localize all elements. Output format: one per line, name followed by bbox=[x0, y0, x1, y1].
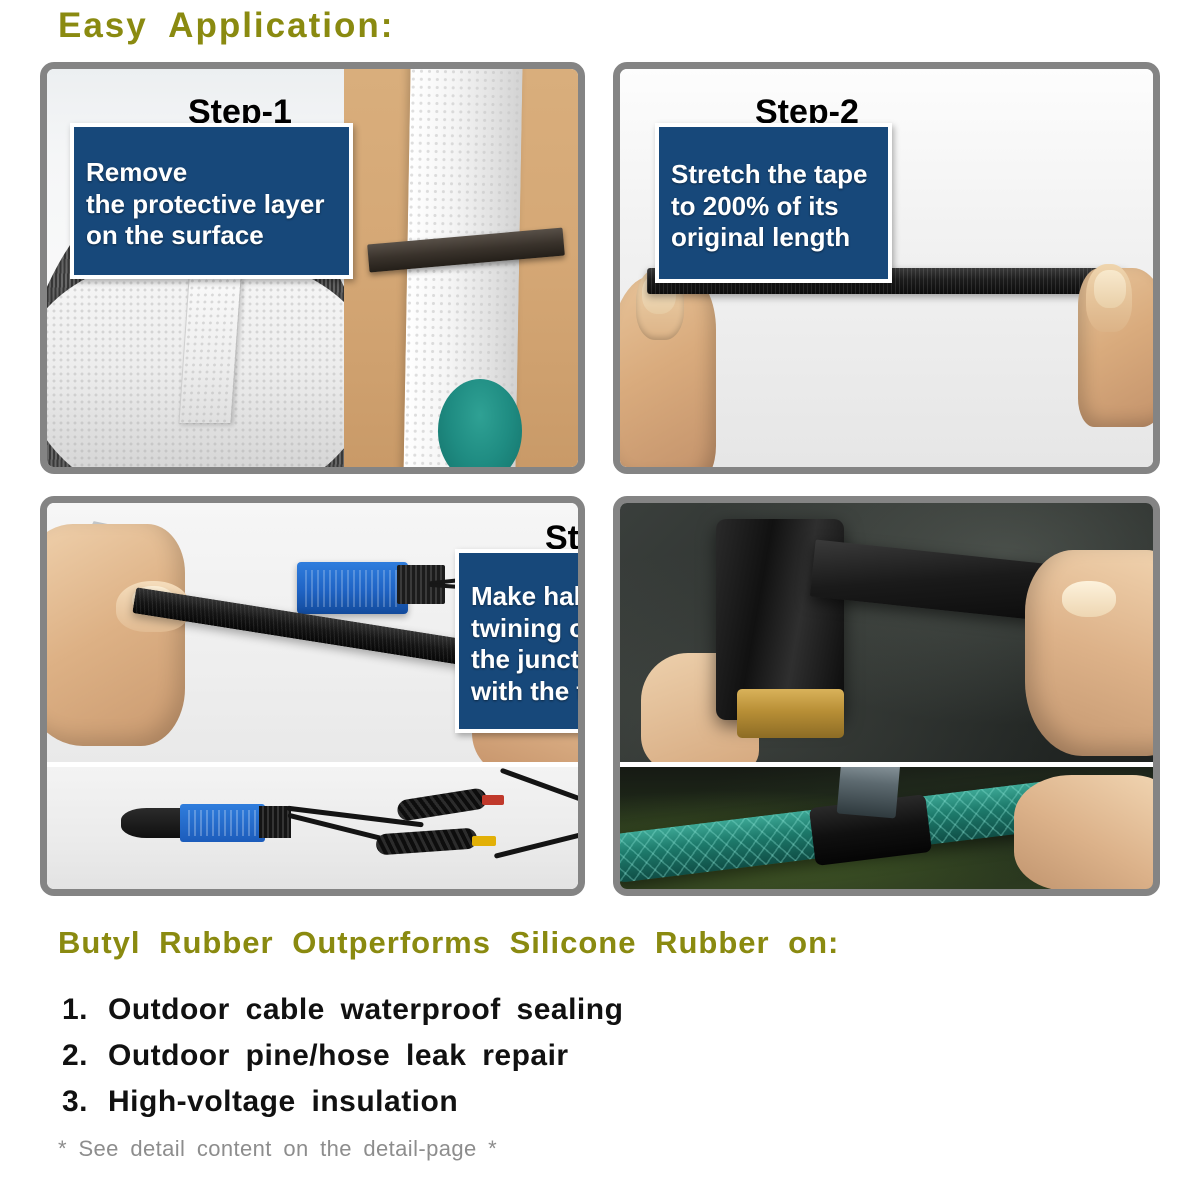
connector-strain-boot bbox=[259, 806, 291, 838]
benefit-number: 1. bbox=[62, 993, 108, 1027]
brass-coupling bbox=[737, 689, 844, 738]
detail-page-footnote: * See detail content on the detail-page … bbox=[58, 1136, 497, 1162]
wrapped-garden-hose-photo bbox=[620, 762, 1153, 889]
step-3-line-2: twining on bbox=[471, 613, 578, 645]
step-1-panel: Step-1 Remove the protective layer on th… bbox=[40, 62, 585, 474]
step-2-line-2: to 200% of its bbox=[671, 191, 876, 223]
step-1-photo-group: Step-1 Remove the protective layer on th… bbox=[47, 69, 578, 467]
benefit-text: Outdoor pine/hose leak repair bbox=[108, 1039, 569, 1072]
yellow-connector-tip bbox=[472, 836, 496, 847]
step-3-right-panel bbox=[613, 496, 1160, 896]
cable-boot bbox=[121, 808, 185, 838]
tape-tail bbox=[836, 762, 899, 818]
benefit-item-1: 1.Outdoor cable waterproof sealing bbox=[62, 993, 623, 1027]
step-2-callout-box: Stretch the tape to 200% of its original… bbox=[655, 123, 892, 283]
cable-tail-upper bbox=[500, 768, 578, 802]
taped-junction-upper bbox=[396, 787, 488, 822]
tape-roll-liner-peel-photo bbox=[344, 69, 578, 467]
benefits-heading: Butyl Rubber Outperforms Silicone Rubber… bbox=[58, 925, 839, 961]
blue-cable-connector bbox=[180, 804, 265, 842]
step-1-callout-box: Remove the protective layer on the surfa… bbox=[70, 123, 353, 279]
step-2-photo-group: Step-2 Stretch the tape to 200% of its o… bbox=[620, 69, 1153, 467]
step-1-line-1: Remove bbox=[86, 135, 337, 189]
page-title: Easy Application: bbox=[58, 6, 394, 46]
step-3-left-photo-group: Step-3 Make half-lapped twining on the j… bbox=[47, 503, 578, 889]
benefit-number: 2. bbox=[62, 1039, 108, 1073]
taped-junction-lower bbox=[376, 827, 478, 855]
blue-cable-connector bbox=[297, 562, 409, 614]
benefit-item-2: 2.Outdoor pine/hose leak repair bbox=[62, 1039, 569, 1073]
step-1-line-2: the protective layer bbox=[86, 189, 337, 221]
benefit-text: High-voltage insulation bbox=[108, 1085, 458, 1118]
benefit-text: Outdoor cable waterproof sealing bbox=[108, 993, 623, 1026]
step-2-line-1: Stretch the tape bbox=[671, 135, 876, 191]
photo-shadow bbox=[47, 364, 344, 467]
step-1-line-3: on the surface bbox=[86, 220, 337, 252]
step-2-line-3: original length bbox=[671, 222, 876, 254]
left-hand bbox=[47, 524, 185, 746]
wrapping-hose-fitting-photo bbox=[620, 503, 1153, 762]
step-3-callout-box: Make half-lapped twining on the junction… bbox=[455, 549, 578, 733]
step-3-right-photo-group bbox=[620, 503, 1153, 889]
benefit-number: 3. bbox=[62, 1085, 108, 1119]
finished-cable-junctions-photo bbox=[47, 762, 578, 889]
step-3-line-4: with the tape bbox=[471, 676, 578, 708]
cable-tail-lower bbox=[494, 832, 578, 859]
right-thumbnail bbox=[1094, 270, 1126, 308]
benefit-item-3: 3.High-voltage insulation bbox=[62, 1085, 458, 1119]
right-hand bbox=[1014, 775, 1153, 889]
right-thumbnail bbox=[1062, 581, 1115, 617]
step-3-left-panel: Step-3 Make half-lapped twining on the j… bbox=[40, 496, 585, 896]
step-3-line-1: Make half-lapped bbox=[471, 561, 578, 613]
step-2-panel: Step-2 Stretch the tape to 200% of its o… bbox=[613, 62, 1160, 474]
step-3-line-3: the junction bbox=[471, 644, 578, 676]
red-connector-tip bbox=[482, 795, 503, 805]
